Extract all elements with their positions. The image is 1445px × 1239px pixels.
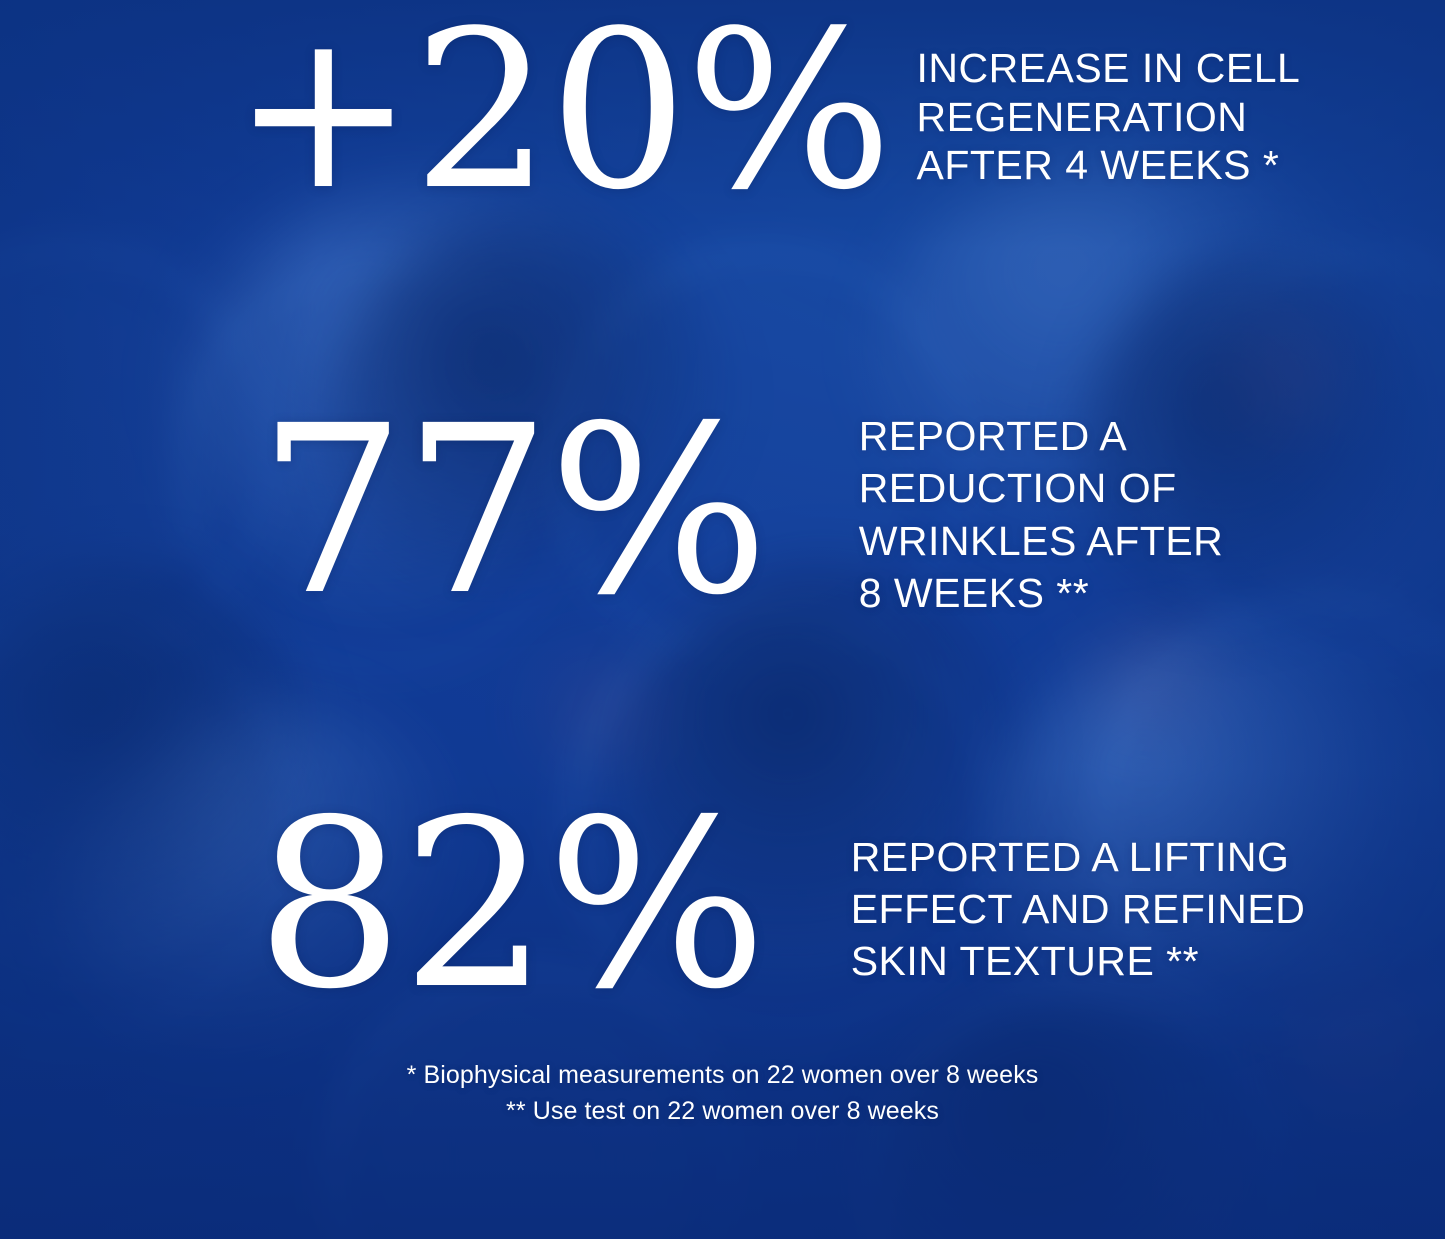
stat-caption: INCREASE IN CELL REGENERATION AFTER 4 WE… xyxy=(916,44,1300,189)
marketing-claims-panel: +20% INCREASE IN CELL REGENERATION AFTER… xyxy=(0,0,1445,1239)
footnotes: * Biophysical measurements on 22 women o… xyxy=(0,1058,1445,1129)
stat-caption: REPORTED A REDUCTION OF WRINKLES AFTER 8… xyxy=(859,410,1224,620)
footnote-line-1: * Biophysical measurements on 22 women o… xyxy=(0,1058,1445,1094)
stat-block-lifting-effect: 82% REPORTED A LIFTING EFFECT AND REFINE… xyxy=(256,806,1305,1006)
stat-block-cell-regeneration: +20% INCREASE IN CELL REGENERATION AFTER… xyxy=(232,18,1300,205)
footnote-line-2: ** Use test on 22 women over 8 weeks xyxy=(0,1094,1445,1130)
stat-figure: 77% xyxy=(258,412,767,612)
stat-figure: +20% xyxy=(232,18,890,205)
claims-content: +20% INCREASE IN CELL REGENERATION AFTER… xyxy=(0,0,1445,1239)
stat-caption: REPORTED A LIFTING EFFECT AND REFINED SK… xyxy=(851,832,1306,987)
stat-block-wrinkle-reduction: 77% REPORTED A REDUCTION OF WRINKLES AFT… xyxy=(258,404,1223,620)
stat-figure: 82% xyxy=(256,806,765,1006)
